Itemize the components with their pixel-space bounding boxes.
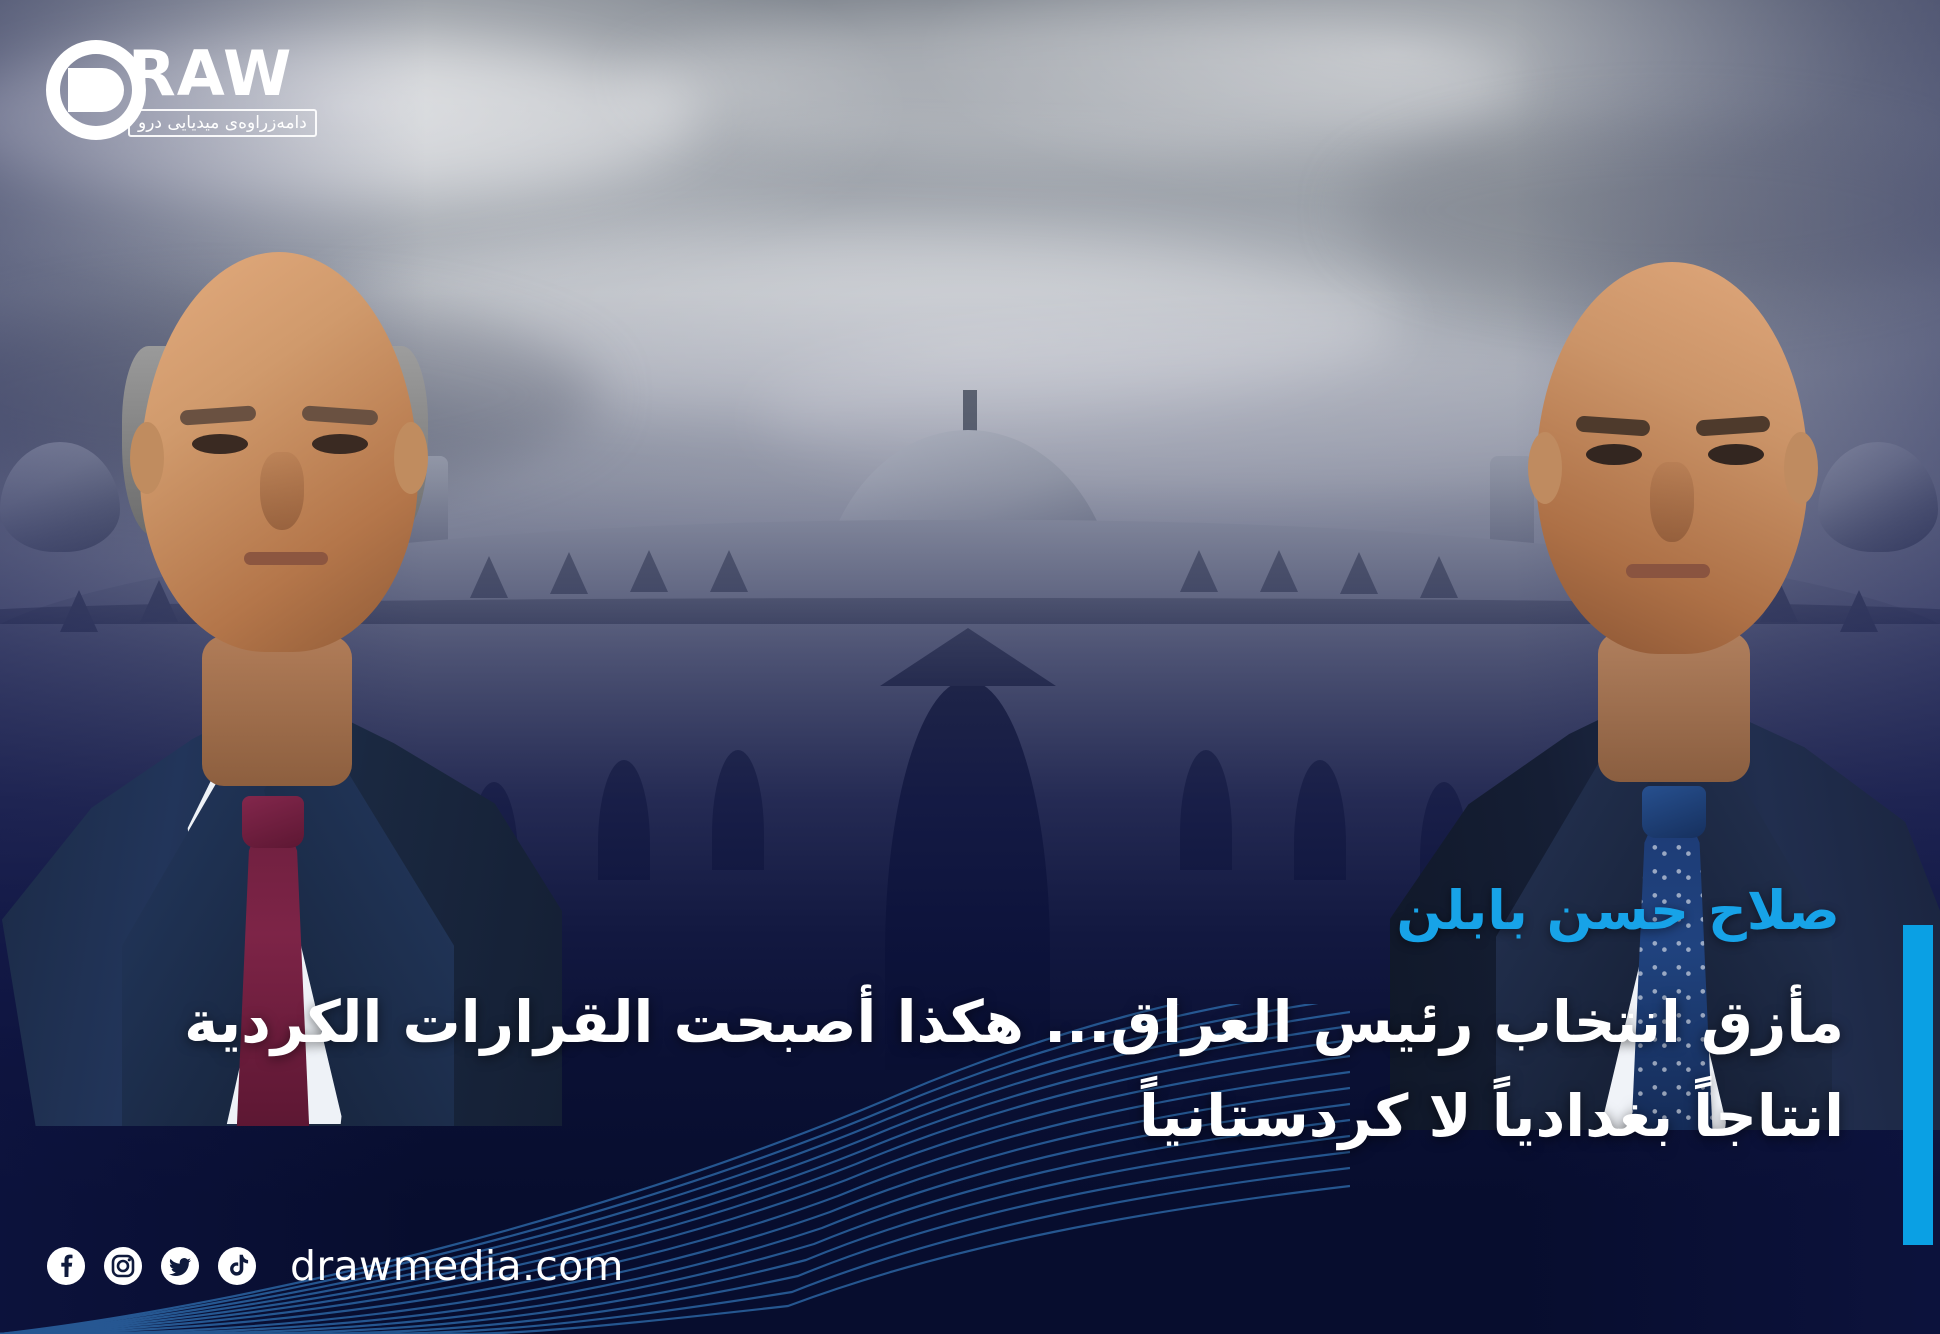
right-neck [1598, 632, 1750, 782]
facebook-icon[interactable] [46, 1246, 86, 1286]
website-url[interactable]: drawmedia.com [290, 1242, 624, 1290]
right-head [1536, 262, 1808, 654]
left-mouth [244, 552, 328, 565]
left-neck [202, 636, 352, 786]
headline-line-1: مأزق انتخاب رئيس العراق... هكذا أصبحت ال… [84, 976, 1844, 1070]
instagram-icon[interactable] [103, 1246, 143, 1286]
right-eye-right [1708, 444, 1764, 465]
left-ear-right [394, 422, 428, 494]
right-mouth [1626, 564, 1710, 578]
left-ear-left [130, 422, 164, 494]
left-eye-right [312, 434, 368, 454]
left-tie-knot [242, 796, 304, 848]
footer: drawmedia.com [46, 1242, 624, 1290]
draw-logo-text: RAW [128, 43, 317, 105]
headline: مأزق انتخاب رئيس العراق... هكذا أصبحت ال… [84, 976, 1844, 1164]
draw-logo[interactable]: RAW دامەزراوەی میدیایی درو [44, 38, 317, 142]
accent-bar [1903, 925, 1933, 1245]
twitter-icon[interactable] [160, 1246, 200, 1286]
headline-line-2: انتاجاً بغدادياً لا كردستانياً [84, 1070, 1844, 1164]
left-eye-left [192, 434, 248, 454]
left-nose [260, 452, 304, 530]
right-ear-left [1528, 432, 1562, 504]
draw-logo-wordmark: RAW دامەزراوەی میدیایی درو [128, 43, 317, 137]
right-ear-right [1784, 432, 1818, 504]
right-eye-left [1586, 444, 1642, 465]
right-tie-knot [1642, 786, 1706, 838]
right-nose [1650, 462, 1694, 542]
tiktok-icon[interactable] [217, 1246, 257, 1286]
author-name: صلاح حسن بابلن [1396, 884, 1840, 938]
draw-logo-tagline: دامەزراوەی میدیایی درو [128, 109, 317, 137]
social-media-news-card: RAW دامەزراوەی میدیایی درو صلاح حسن بابل… [0, 0, 1940, 1334]
